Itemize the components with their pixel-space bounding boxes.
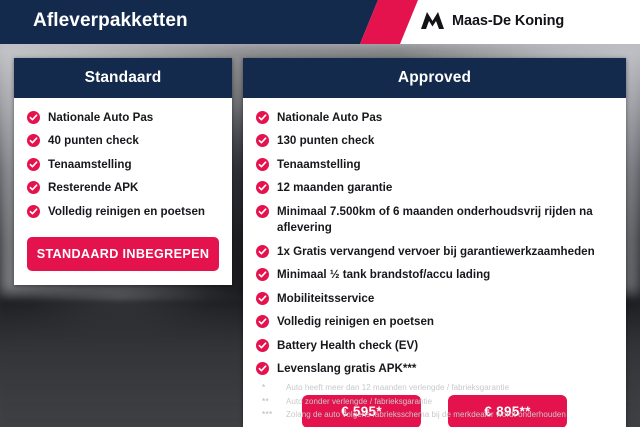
brand-logo: Maas-De Koning [420,11,564,30]
footnote-marker: * [262,383,286,392]
feature-list-approved: Nationale Auto Pas 130 punten check Tena… [256,110,613,377]
list-item: Minimaal ½ tank brandstof/accu lading [256,267,613,283]
check-circle-icon [256,315,269,328]
check-circle-icon [256,268,269,281]
check-circle-icon [256,111,269,124]
list-item: Minimaal 7.500km of 6 maanden onderhouds… [256,204,613,237]
footnote-marker: *** [262,410,286,419]
list-item: Mobiliteitsservice [256,291,613,307]
standaard-inbegrepen-button[interactable]: STANDAARD INBEGREPEN [27,237,219,271]
check-circle-icon [256,292,269,305]
feature-label: Tenaamstelling [48,157,132,173]
feature-label: Minimaal ½ tank brandstof/accu lading [277,267,490,283]
list-item: 130 punten check [256,133,613,149]
check-circle-icon [27,158,40,171]
feature-label: Resterende APK [48,180,138,196]
feature-label: Nationale Auto Pas [277,110,382,126]
check-circle-icon [27,111,40,124]
feature-label: Tenaamstelling [277,157,361,173]
list-item: Volledig reinigen en poetsen [27,204,219,220]
feature-label: Nationale Auto Pas [48,110,153,126]
maas-de-koning-m-logo-icon [420,11,445,30]
list-item: Nationale Auto Pas [256,110,613,126]
check-circle-icon [256,339,269,352]
check-circle-icon [256,134,269,147]
feature-list-standaard: Nationale Auto Pas 40 punten check Tenaa… [27,110,219,220]
feature-label: Volledig reinigen en poetsen [277,314,434,330]
check-circle-icon [256,362,269,375]
list-item: Resterende APK [27,180,219,196]
feature-label: 40 punten check [48,133,139,149]
list-item: Nationale Auto Pas [27,110,219,126]
list-item: 1x Gratis vervangend vervoer bij garanti… [256,244,613,260]
feature-label: Volledig reinigen en poetsen [48,204,205,220]
card-title-approved: Approved [243,58,626,98]
afleverpakketten-screen: Afleverpakketten Maas-De Koning Standaar… [0,0,640,427]
check-circle-icon [256,205,269,218]
check-circle-icon [256,245,269,258]
list-item: Tenaamstelling [256,157,613,173]
check-circle-icon [27,134,40,147]
footnote-row: ** Auto zonder verlengde / fabrieksgaran… [262,396,632,408]
footnote-text: Zolang de auto volgens fabrieksschema bi… [286,409,566,421]
footnote-row: *** Zolang de auto volgens fabrieksschem… [262,409,632,421]
standaard-cta-wrapper: STANDAARD INBEGREPEN [27,237,219,271]
feature-label: 12 maanden garantie [277,180,392,196]
footnote-text: Auto heeft meer dan 12 maanden verlengde… [286,382,509,394]
card-body-standaard: Nationale Auto Pas 40 punten check Tenaa… [14,98,232,285]
list-item: Levenslang gratis APK*** [256,361,613,377]
feature-label: Battery Health check (EV) [277,338,418,354]
card-title-standaard: Standaard [14,58,232,98]
package-card-approved: Approved Nationale Auto Pas 130 punten c… [243,58,626,427]
check-circle-icon [256,158,269,171]
card-body-approved: Nationale Auto Pas 130 punten check Tena… [243,98,626,427]
feature-label: Levenslang gratis APK*** [277,361,416,377]
list-item: 12 maanden garantie [256,180,613,196]
list-item: Battery Health check (EV) [256,338,613,354]
check-circle-icon [256,181,269,194]
package-card-standaard: Standaard Nationale Auto Pas 40 punten c… [14,58,232,285]
feature-label: Mobiliteitsservice [277,291,374,307]
feature-label: 1x Gratis vervangend vervoer bij garanti… [277,244,595,260]
footnote-row: * Auto heeft meer dan 12 maanden verleng… [262,382,632,394]
feature-label: 130 punten check [277,133,374,149]
page-title: Afleverpakketten [33,10,188,32]
list-item: 40 punten check [27,133,219,149]
feature-label: Minimaal 7.500km of 6 maanden onderhouds… [277,204,613,237]
check-circle-icon [27,205,40,218]
footnotes-block: * Auto heeft meer dan 12 maanden verleng… [262,382,632,423]
list-item: Tenaamstelling [27,157,219,173]
brand-name: Maas-De Koning [452,13,564,29]
footnote-text: Auto zonder verlengde / fabrieksgarantie [286,396,432,408]
footnote-marker: ** [262,397,286,406]
check-circle-icon [27,181,40,194]
page-header: Afleverpakketten Maas-De Koning [0,0,640,44]
list-item: Volledig reinigen en poetsen [256,314,613,330]
